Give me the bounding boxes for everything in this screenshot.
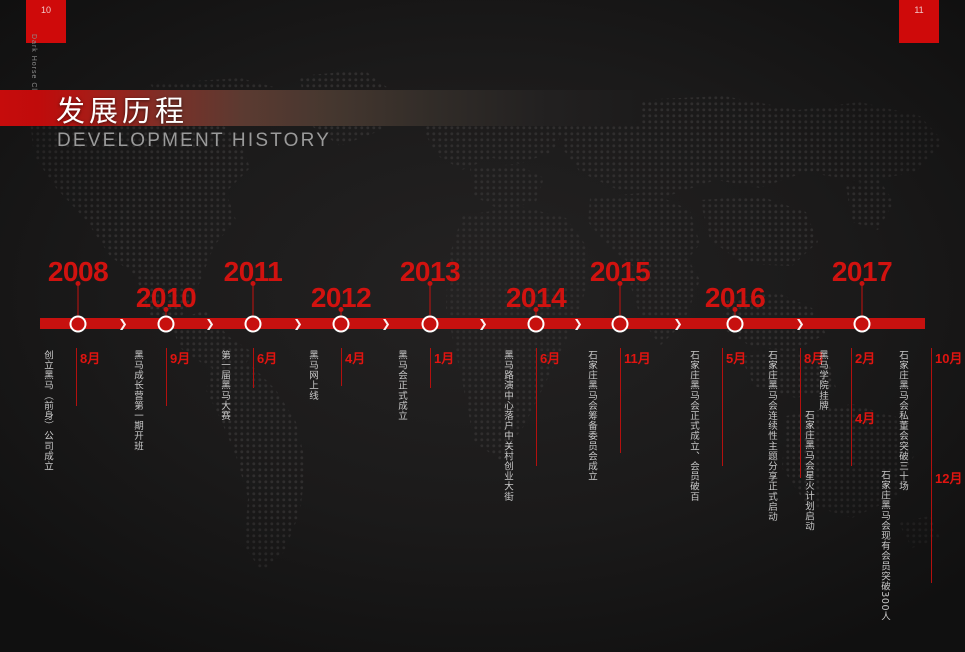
event-rule <box>430 348 431 388</box>
event-description: 创立黑马（前身）公司成立 <box>40 350 54 471</box>
event-month: 4月 <box>345 348 365 367</box>
timeline-year-2014[interactable]: 2014 <box>506 282 566 314</box>
event-rule <box>851 348 852 466</box>
event-description: 第一届黑马大赛 <box>217 350 231 421</box>
event-month: 11月 <box>624 348 651 367</box>
event-description: 石家庄黑马会星火计划启动 <box>801 410 815 531</box>
timeline-year-2011[interactable]: 2011 <box>224 256 283 288</box>
timeline-arrow-icon: ❯ <box>573 318 582 329</box>
event-month: 5月 <box>726 348 746 367</box>
timeline-arrow-icon: ❯ <box>293 318 302 329</box>
timeline-arrow-icon: ❯ <box>205 318 214 329</box>
timeline-axis-cap-left <box>40 318 45 329</box>
timeline-year-2015[interactable]: 2015 <box>590 256 650 288</box>
timeline-arrow-icon: ❯ <box>118 318 127 329</box>
timeline-arrow-icon: ❯ <box>673 318 682 329</box>
event-description: 石家庄黑马会正式成立、会员破百 <box>686 350 700 502</box>
event-month: 1月 <box>434 348 454 367</box>
timeline-node-2011[interactable] <box>245 315 262 332</box>
timeline-arrow-icon: ❯ <box>795 318 804 329</box>
timeline-year-2012[interactable]: 2012 <box>311 282 371 314</box>
event-description: 黑马学院挂牌 <box>815 350 829 411</box>
timeline-node-2013[interactable] <box>422 315 439 332</box>
event-month: 4月 <box>855 408 875 427</box>
timeline-year-2016[interactable]: 2016 <box>705 282 765 314</box>
timeline-year-2017[interactable]: 2017 <box>832 256 892 288</box>
event-description: 黑马会正式成立 <box>394 350 408 421</box>
timeline-node-2012[interactable] <box>333 315 350 332</box>
event-month: 6月 <box>257 348 277 367</box>
timeline-node-2017[interactable] <box>854 315 871 332</box>
event-description: 石家庄黑马会现有会员突破300人 <box>877 470 891 621</box>
event-month: 12月 <box>935 468 962 487</box>
event-description: 黑马成长营第一期开班 <box>130 350 144 451</box>
event-month: 2月 <box>855 348 875 367</box>
event-rule <box>931 348 932 583</box>
timeline-node-2016[interactable] <box>727 315 744 332</box>
event-rule <box>166 348 167 406</box>
event-description: 石家庄黑马会连续性主题分享正式启动 <box>764 350 778 522</box>
event-description: 石家庄黑马会筹备委员会成立 <box>584 350 598 481</box>
event-month: 10月 <box>935 348 962 367</box>
timeline-year-2010[interactable]: 2010 <box>136 282 196 314</box>
timeline-node-2015[interactable] <box>612 315 629 332</box>
timeline-node-2014[interactable] <box>528 315 545 332</box>
timeline-arrow-icon: ❯ <box>381 318 390 329</box>
event-rule <box>536 348 537 466</box>
event-description: 黑马路演中心落户中关村创业大街 <box>500 350 514 502</box>
timeline: 200820102011201220132014201520162017❯❯❯❯… <box>0 0 965 652</box>
timeline-axis-cap-right <box>920 318 925 329</box>
event-month: 8月 <box>80 348 100 367</box>
timeline-year-2013[interactable]: 2013 <box>400 256 460 288</box>
event-description: 黑马网上线 <box>305 350 319 401</box>
event-rule <box>620 348 621 453</box>
event-rule <box>722 348 723 466</box>
event-rule <box>341 348 342 386</box>
event-rule <box>253 348 254 388</box>
event-month: 6月 <box>540 348 560 367</box>
timeline-node-2008[interactable] <box>70 315 87 332</box>
timeline-year-2008[interactable]: 2008 <box>48 256 108 288</box>
timeline-arrow-icon: ❯ <box>478 318 487 329</box>
timeline-node-2010[interactable] <box>158 315 175 332</box>
slide-root: 10 11 Dark Horse Club 发展历程 DEVELOPMENT H… <box>0 0 965 652</box>
event-month: 9月 <box>170 348 190 367</box>
event-rule <box>76 348 77 406</box>
event-description: 石家庄黑马会私董会突破三十场 <box>895 350 909 491</box>
